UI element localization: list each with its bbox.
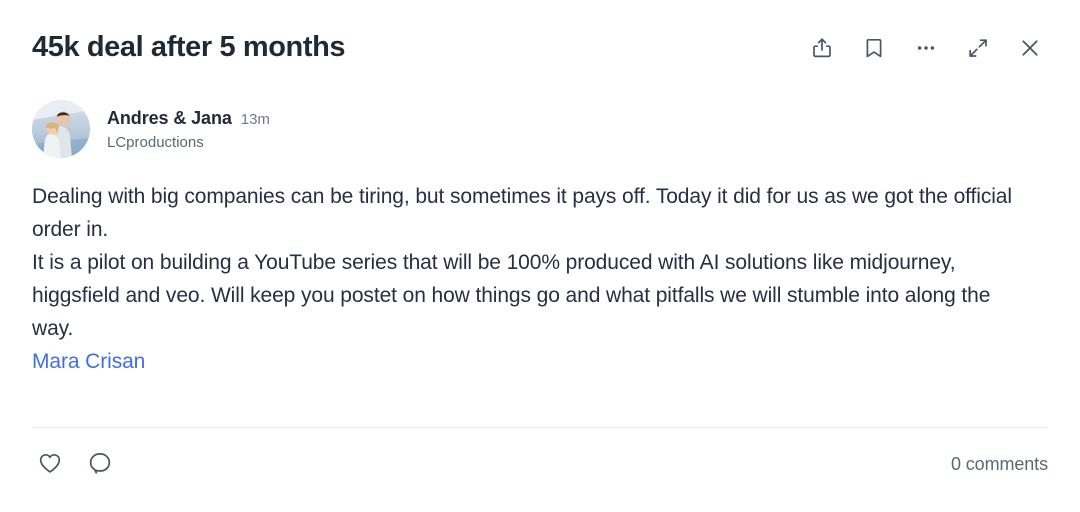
post-mention-line: Mara Crisan: [32, 345, 1016, 378]
bookmark-button[interactable]: [852, 26, 896, 70]
author-info: Andres & Jana 13m LCproductions: [107, 108, 270, 151]
post-detail-modal: 45k deal after 5 months: [0, 0, 1080, 512]
close-icon: [1018, 36, 1042, 60]
heart-icon: [37, 450, 63, 479]
header-action-bar: [800, 26, 1052, 70]
author-name-line: Andres & Jana 13m: [107, 108, 270, 129]
page-title: 45k deal after 5 months: [32, 31, 345, 64]
author-subtitle: LCproductions: [107, 134, 270, 151]
post-footer: 0 comments: [32, 427, 1048, 486]
reaction-bar: [32, 446, 118, 482]
like-button[interactable]: [32, 446, 68, 482]
avatar[interactable]: [32, 100, 90, 158]
more-icon: [914, 36, 938, 60]
mention-link-mara-crisan[interactable]: Mara Crisan: [32, 350, 145, 373]
share-icon: [810, 36, 834, 60]
post-timestamp: 13m: [241, 111, 270, 128]
footer-row: 0 comments: [32, 428, 1048, 486]
expand-button[interactable]: [956, 26, 1000, 70]
comments-count[interactable]: 0 comments: [951, 454, 1048, 475]
post-paragraph-2: It is a pilot on building a YouTube seri…: [32, 246, 1016, 345]
close-button[interactable]: [1008, 26, 1052, 70]
share-button[interactable]: [800, 26, 844, 70]
bookmark-icon: [862, 36, 886, 60]
post-paragraph-1: Dealing with big companies can be tiring…: [32, 180, 1016, 246]
author-name[interactable]: Andres & Jana: [107, 108, 232, 129]
expand-icon: [966, 36, 990, 60]
more-options-button[interactable]: [904, 26, 948, 70]
comment-bubble-icon: [87, 450, 113, 479]
author-row: Andres & Jana 13m LCproductions: [0, 78, 1080, 158]
post-header: 45k deal after 5 months: [0, 0, 1080, 78]
post-body: Dealing with big companies can be tiring…: [0, 158, 1048, 378]
comment-button[interactable]: [82, 446, 118, 482]
